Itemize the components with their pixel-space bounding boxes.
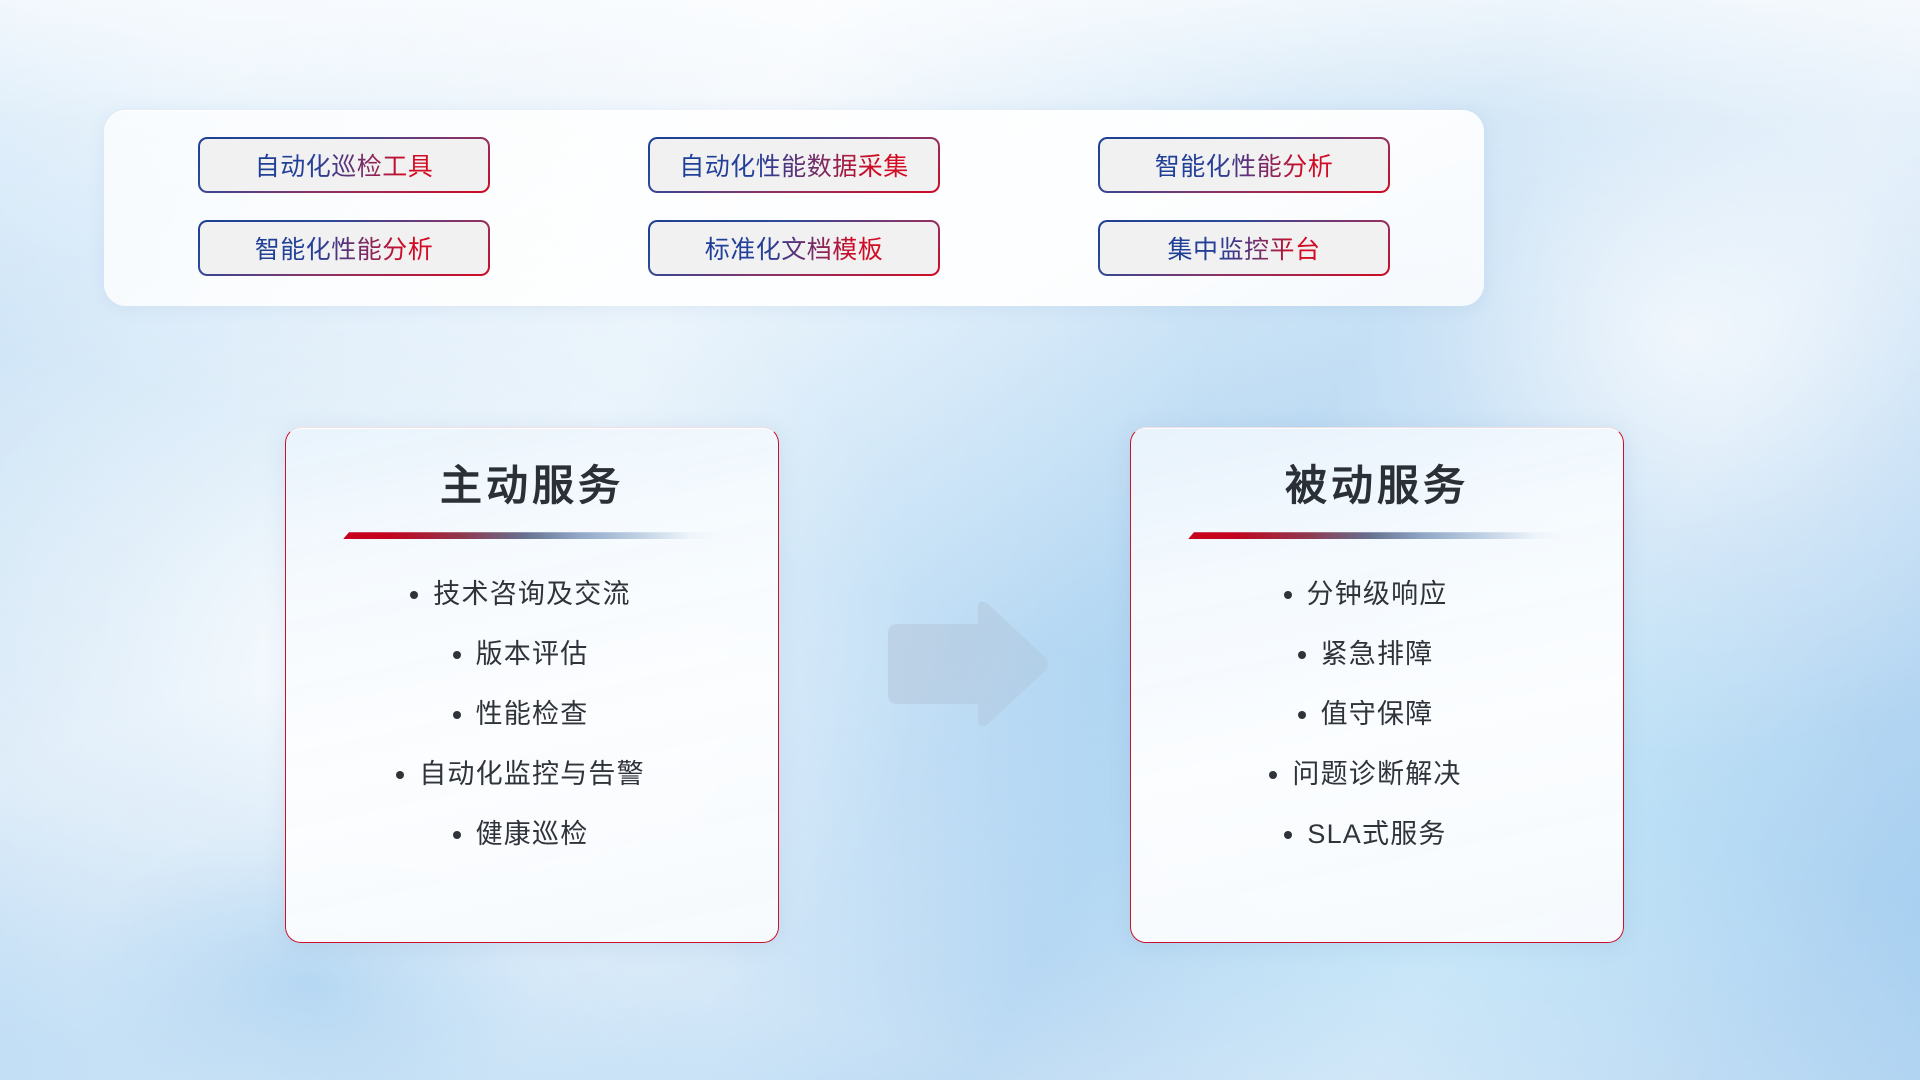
capability-chip-label: 标准化文档模板 [705,230,884,266]
capability-chip-label: 智能化性能分析 [255,230,434,266]
title-underline-rule [1188,532,1566,539]
capability-chip-surface: 智能化性能分析 [199,221,489,275]
capability-chip-label: 智能化性能分析 [1155,147,1334,183]
capability-chip-surface: 标准化文档模板 [649,221,939,275]
title-underline-rule [343,532,721,539]
service-card-title: 主动服务 [286,462,778,510]
list-item: 版本评估 [476,641,589,668]
capability-chip-intelligent-performance-analysis-a[interactable]: 智能化性能分析 [1098,137,1390,193]
capability-panel: 自动化巡检工具 自动化性能数据采集 智能化性能分析 智能化性能分析 标准化文档模… [104,110,1484,306]
capability-chip-automated-inspection-tool[interactable]: 自动化巡检工具 [198,137,490,193]
capability-chip-automated-performance-collection[interactable]: 自动化性能数据采集 [648,137,940,193]
service-card-reactive: 被动服务 分钟级响应 紧急排障 值守保障 问题诊断解决 SLA式服务 [1130,427,1624,943]
list-item: 健康巡检 [476,821,589,848]
service-item-list: 技术咨询及交流 版本评估 性能检查 自动化监控与告警 健康巡检 [286,581,778,848]
arrow-right-icon [878,598,1050,730]
list-item: SLA式服务 [1307,821,1446,848]
capability-chip-surface: 集中监控平台 [1099,221,1389,275]
capability-chip-label: 自动化性能数据采集 [679,147,909,183]
capability-chip-label: 集中监控平台 [1167,230,1320,266]
capability-chip-centralized-monitoring-platform[interactable]: 集中监控平台 [1098,220,1390,276]
capability-chip-standard-doc-template[interactable]: 标准化文档模板 [648,220,940,276]
capability-chip-surface: 自动化性能数据采集 [649,138,939,192]
list-item: 自动化监控与告警 [419,761,645,788]
capability-chip-intelligent-performance-analysis-b[interactable]: 智能化性能分析 [198,220,490,276]
list-item: 分钟级响应 [1307,581,1448,608]
service-card-title: 被动服务 [1131,462,1623,510]
list-item: 值守保障 [1321,701,1434,728]
service-item-list: 分钟级响应 紧急排障 值守保障 问题诊断解决 SLA式服务 [1131,581,1623,848]
capability-chip-surface: 智能化性能分析 [1099,138,1389,192]
list-item: 技术咨询及交流 [433,581,630,608]
service-card-proactive: 主动服务 技术咨询及交流 版本评估 性能检查 自动化监控与告警 健康巡检 [285,427,779,943]
capability-chip-grid: 自动化巡检工具 自动化性能数据采集 智能化性能分析 智能化性能分析 标准化文档模… [182,137,1406,276]
capability-chip-label: 自动化巡检工具 [255,147,434,183]
list-item: 紧急排障 [1321,641,1434,668]
list-item: 性能检查 [476,701,589,728]
background-top-highlight [0,0,1920,120]
list-item: 问题诊断解决 [1292,761,1461,788]
capability-chip-surface: 自动化巡检工具 [199,138,489,192]
